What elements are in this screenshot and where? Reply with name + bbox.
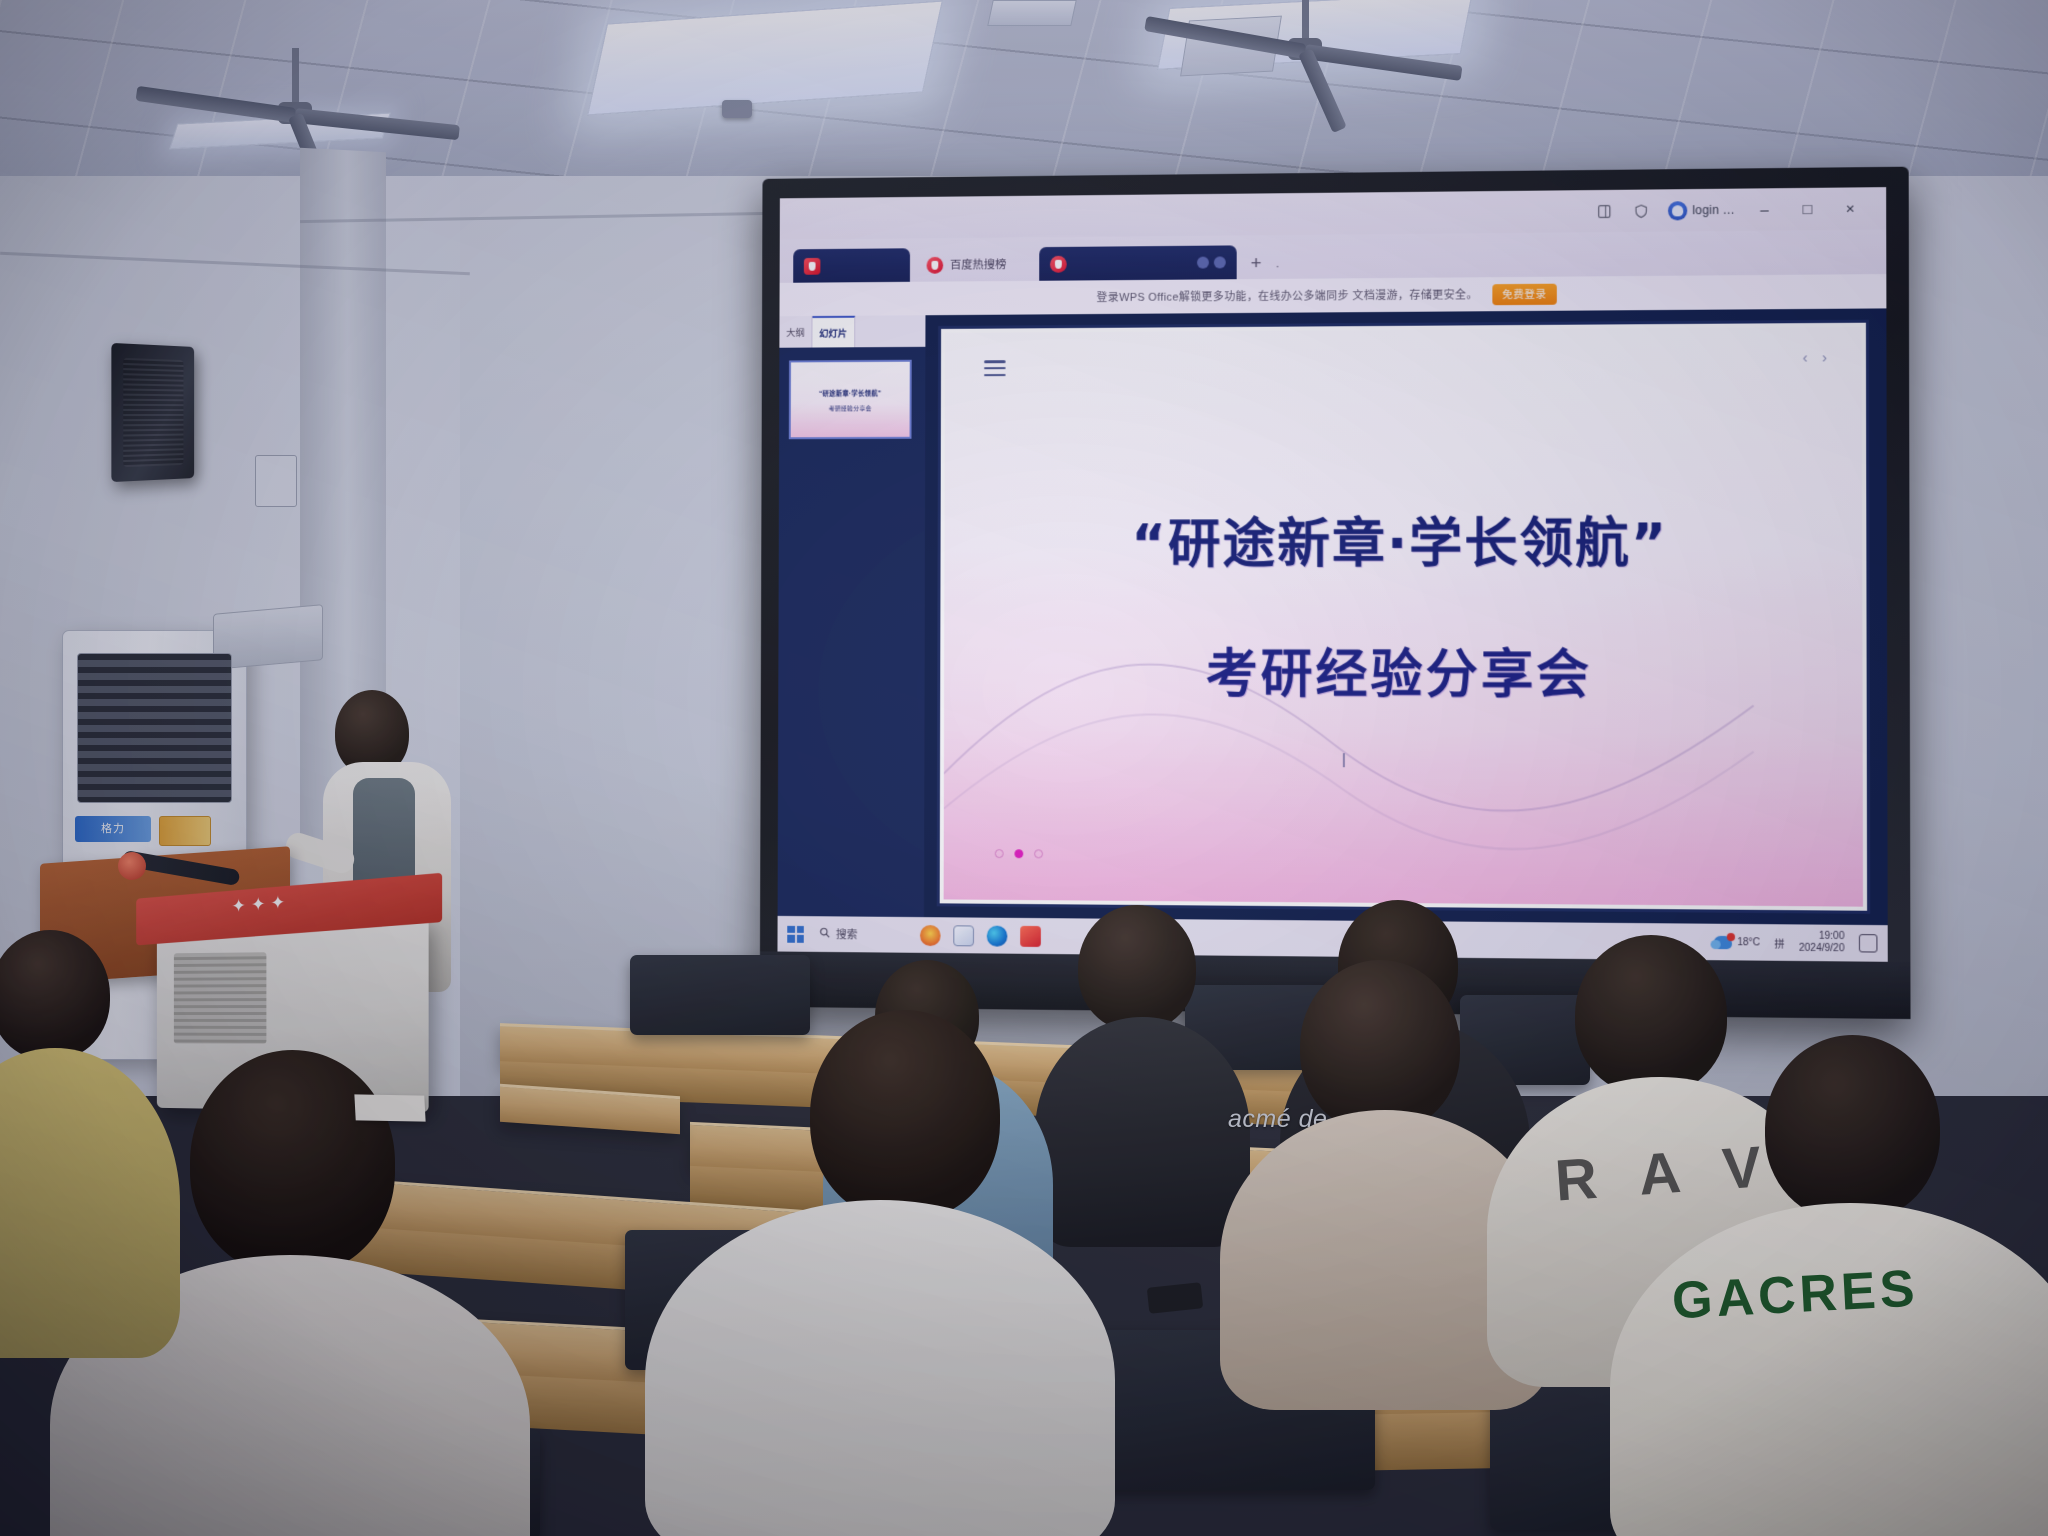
decor-star: ✦ ✦ ✦: [231, 892, 285, 917]
collections-icon[interactable]: [1595, 201, 1615, 221]
microphone-head: [118, 852, 146, 880]
wps-workspace: 大纲 幻灯片 “研途新章·学长领航” 考研经验分享会: [778, 308, 1888, 925]
display-screen: login … – □ × 百度热搜榜: [777, 187, 1887, 962]
classroom-photo: 格力 login … –: [0, 0, 2048, 1536]
promo-text: 登录WPS Office解锁更多功能，在线办公多端同步 文档漫游，存储更安全。: [1097, 286, 1478, 305]
taskbar-apps: [920, 925, 1041, 947]
slide-subtitle: 考研经验分享会: [1206, 631, 1592, 707]
slide-stage: ‹ › “研途新章·学长领航” 考研经验分享会: [924, 308, 1888, 925]
close-button[interactable]: ×: [1837, 201, 1864, 216]
hamburger-icon[interactable]: [984, 360, 1006, 376]
prev-slide-button[interactable]: ‹: [1803, 349, 1808, 366]
notification-icon[interactable]: [1859, 934, 1878, 952]
shield-icon[interactable]: [1631, 201, 1651, 221]
slide-text-block: “研途新章·学长领航” 考研经验分享会: [944, 500, 1863, 708]
clock-time: 19:00: [1799, 930, 1845, 943]
slide-thumbnail-list: “研途新章·学长领航” 考研经验分享会: [779, 347, 925, 452]
heart-icon: [804, 257, 821, 274]
tab-overflow-icon[interactable]: ·: [1276, 258, 1280, 279]
maximize-button[interactable]: □: [1794, 201, 1821, 216]
pagination-dot-active[interactable]: [1014, 849, 1023, 858]
slide-panel: 大纲 幻灯片 “研途新章·学长领航” 考研经验分享会: [778, 315, 926, 917]
thumbnail-subtitle: 考研经验分享会: [829, 403, 872, 412]
slide-canvas[interactable]: ‹ › “研途新章·学长领航” 考研经验分享会: [944, 327, 1863, 907]
ac-energy-tag: [159, 816, 211, 846]
slide-canvas-frame: ‹ › “研途新章·学长领航” 考研经验分享会: [940, 323, 1867, 911]
wall-switch-plate: [255, 455, 297, 507]
browser-tab-active[interactable]: [1039, 245, 1237, 280]
text-cursor: [1343, 753, 1345, 767]
browser-window: login … – □ × 百度热搜榜: [777, 187, 1887, 962]
tab-close-icon[interactable]: [1214, 256, 1226, 268]
tab-mute-icon[interactable]: [1197, 257, 1209, 269]
slide-title: “研途新章·学长领航”: [1131, 501, 1668, 578]
tab-label: 百度热搜榜: [950, 256, 1006, 272]
student: [700, 1010, 1060, 1536]
pagination-dot[interactable]: [1034, 849, 1043, 858]
student: [1040, 905, 1240, 1205]
edge-icon[interactable]: [987, 925, 1008, 946]
wall-speaker: [111, 343, 194, 482]
wps-icon: [1050, 255, 1067, 272]
clock[interactable]: 19:00 2024/9/20: [1799, 930, 1845, 956]
minimize-button[interactable]: –: [1751, 202, 1778, 217]
new-tab-button[interactable]: +: [1243, 253, 1270, 279]
wps-icon[interactable]: [1020, 925, 1041, 946]
wps-icon: [927, 256, 944, 273]
phone-on-desk: [1147, 1282, 1203, 1314]
ceiling-fan: [130, 48, 460, 158]
next-slide-button[interactable]: ›: [1822, 349, 1827, 366]
wall-display: login … – □ × 百度热搜榜: [760, 167, 1911, 1019]
taskbar-search[interactable]: 搜索: [814, 924, 868, 944]
slide-pagination: [995, 849, 1043, 858]
pagination-dot[interactable]: [995, 849, 1004, 858]
avatar: [1668, 201, 1687, 220]
search-icon: [819, 927, 830, 941]
ac-grille: [77, 653, 232, 803]
paint-icon[interactable]: [920, 925, 941, 946]
ceiling-sensor: [722, 100, 752, 118]
slide-thumbnail[interactable]: “研途新章·学长领航” 考研经验分享会: [789, 360, 912, 439]
tab-outline[interactable]: 大纲: [779, 316, 812, 348]
slide-navigation: ‹ ›: [1803, 349, 1828, 366]
ceiling-fan: [1140, 0, 1470, 120]
thumbnail-title: “研途新章·学长领航”: [819, 387, 881, 397]
search-label: 搜索: [836, 926, 858, 942]
slide-panel-tabs: 大纲 幻灯片: [779, 315, 925, 348]
ceiling-vent: [987, 0, 1077, 26]
document-icon[interactable]: [953, 925, 974, 946]
paper-on-desk: [354, 1094, 425, 1121]
account-label: login …: [1692, 203, 1735, 217]
start-icon[interactable]: [787, 925, 804, 942]
clock-date: 2024/9/20: [1799, 943, 1845, 956]
student: [1230, 960, 1530, 1380]
ac-brand-label: 格力: [75, 816, 151, 842]
browser-tab[interactable]: 百度热搜榜: [916, 247, 1034, 282]
promo-login-button[interactable]: 免费登录: [1492, 283, 1556, 305]
student: [0, 930, 200, 1350]
browser-tab[interactable]: [793, 248, 910, 282]
account-button[interactable]: login …: [1668, 200, 1735, 220]
tab-slides[interactable]: 幻灯片: [812, 316, 854, 348]
